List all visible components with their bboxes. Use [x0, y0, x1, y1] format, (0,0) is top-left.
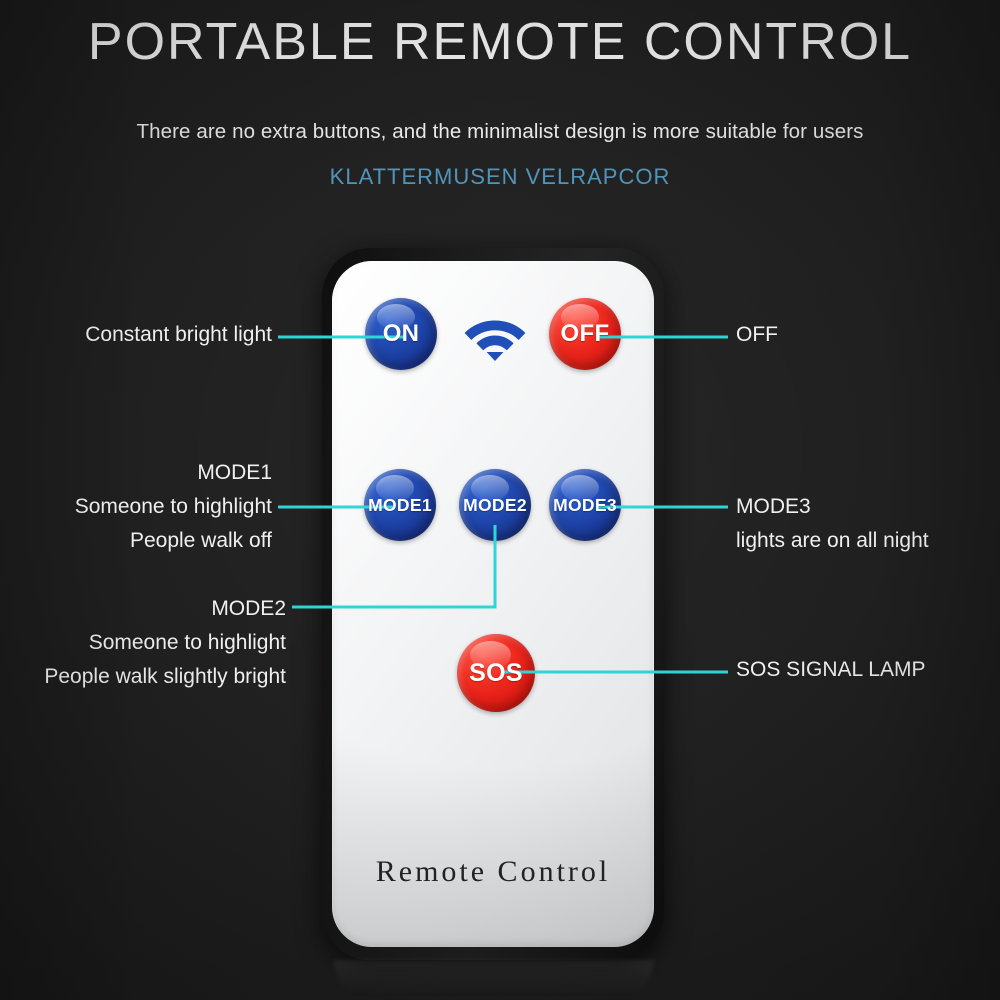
page-title: PORTABLE REMOTE CONTROL [0, 12, 1000, 72]
annotation-mode1-line-3: People walk off [0, 524, 272, 558]
annotation-sos: SOS SIGNAL LAMP [736, 653, 925, 687]
mode1-button-label: MODE1 [368, 495, 432, 516]
sos-button-label: SOS [469, 659, 523, 688]
sos-button[interactable]: SOS [457, 634, 535, 712]
annotation-sos-line-1: SOS SIGNAL LAMP [736, 653, 925, 687]
annotation-mode1-line-2: Someone to highlight [0, 490, 272, 524]
mode3-button[interactable]: MODE3 [549, 469, 621, 541]
annotation-off: OFF [736, 318, 778, 352]
mode3-button-label: MODE3 [553, 495, 617, 516]
mode2-button[interactable]: MODE2 [459, 469, 531, 541]
on-button[interactable]: ON [365, 298, 437, 370]
device-brand-text: Remote Control [322, 855, 664, 889]
annotation-mode3-line-1: MODE3 [736, 490, 929, 524]
annotation-mode2-line-3: People walk slightly bright [0, 660, 286, 694]
annotation-mode2-line-2: Someone to highlight [0, 626, 286, 660]
annotation-mode3-line-2: lights are on all night [736, 524, 929, 558]
annotation-mode3: MODE3 lights are on all night [736, 490, 929, 558]
page-subtitle: There are no extra buttons, and the mini… [0, 120, 1000, 144]
annotation-on: Constant bright light [0, 318, 272, 352]
infographic-stage: PORTABLE REMOTE CONTROL There are no ext… [0, 0, 1000, 1000]
annotation-mode2-line-1: MODE2 [0, 592, 286, 626]
annotation-mode1: MODE1 Someone to highlight People walk o… [0, 456, 272, 558]
wifi-signal-icon [462, 306, 528, 362]
annotation-off-line-1: OFF [736, 318, 778, 352]
annotation-mode2: MODE2 Someone to highlight People walk s… [0, 592, 286, 694]
mode2-button-label: MODE2 [463, 495, 527, 516]
annotation-on-line-1: Constant bright light [0, 318, 272, 352]
on-button-label: ON [383, 320, 420, 348]
off-button-label: OFF [561, 320, 610, 348]
off-button[interactable]: OFF [549, 298, 621, 370]
mode1-button[interactable]: MODE1 [364, 469, 436, 541]
annotation-mode1-line-1: MODE1 [0, 456, 272, 490]
brand-tagline: KLATTERMUSEN VELRAPCOR [0, 164, 1000, 190]
device-reflection [334, 960, 654, 1000]
